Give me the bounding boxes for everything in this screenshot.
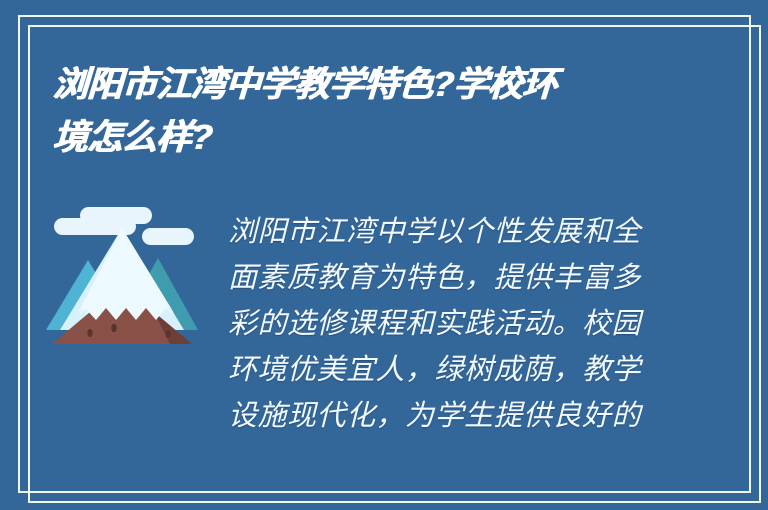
page-title-line-1: 浏阳市江湾中学教学特色?学校环	[52, 58, 655, 111]
article-body-line-2: 面素质教育为特色，提供丰富多	[228, 254, 660, 300]
article-body-line-4: 环境优美宜人，绿树成荫，教学	[228, 346, 660, 392]
page-title-line-2: 境怎么样?	[52, 111, 655, 164]
article-card: 浏阳市江湾中学教学特色?学校环 境怎么样?	[0, 0, 768, 510]
article-body-line-1: 浏阳市江湾中学以个性发展和全	[228, 208, 660, 254]
article-body-line-5: 设施现代化，为学生提供良好的	[228, 392, 660, 438]
rock-speckle-3	[165, 330, 170, 338]
article-body-line-3: 彩的选修课程和实践活动。校园	[228, 300, 660, 346]
rock-speckle-2	[111, 324, 117, 332]
rock-speckle-1	[87, 329, 92, 337]
mountain-landscape-icon	[42, 200, 202, 365]
article-body: 浏阳市江湾中学以个性发展和全 面素质教育为特色，提供丰富多 彩的选修课程和实践活…	[228, 208, 660, 438]
page-title: 浏阳市江湾中学教学特色?学校环 境怎么样?	[53, 58, 653, 164]
